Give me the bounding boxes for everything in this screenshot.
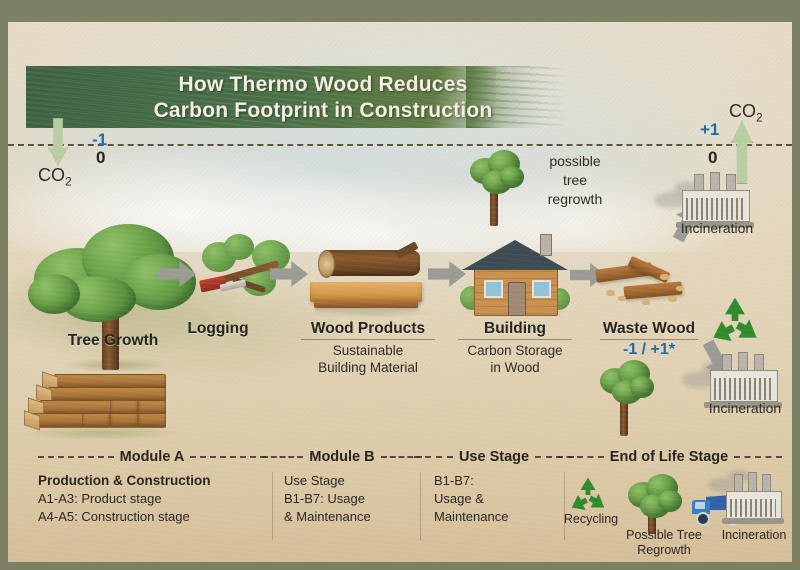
label-incineration-bottom: Incineration — [690, 400, 792, 417]
value-zero-left: 0 — [96, 148, 105, 168]
wood-products-icon — [310, 250, 430, 318]
label-wood-products: Wood Products — [288, 320, 448, 338]
underline-waste-wood — [600, 339, 698, 340]
tree-icon-regrowth-lower — [600, 360, 658, 436]
module-b-line-3: & Maintenance — [284, 508, 420, 526]
factory-icon-eol — [716, 474, 788, 524]
dash-left-use — [414, 456, 453, 458]
dash-left-b — [262, 456, 303, 458]
module-divider-3 — [564, 472, 565, 540]
co2-text-left: CO — [38, 165, 65, 185]
co2-text-right: CO — [729, 101, 756, 121]
label-incineration-top: Incineration — [662, 220, 772, 237]
module-b-line-1: Use Stage — [284, 472, 420, 490]
dash-right-eol — [734, 456, 782, 458]
carbon-zero-baseline — [8, 144, 792, 146]
use-stage-line-1: B1-B7: — [434, 472, 566, 490]
module-a-line-2: A1-A3: Product stage — [38, 490, 270, 508]
module-b-line-2: B1-B7: Usage — [284, 490, 420, 508]
use-stage-line-2: Usage & — [434, 490, 566, 508]
value-waste-wood-balance: -1 / +1* — [588, 341, 710, 358]
house-icon — [460, 234, 570, 316]
module-divider-1 — [272, 472, 273, 540]
dash-right-a — [190, 456, 266, 458]
module-header-use-stage: Use Stage — [414, 446, 574, 468]
label-logging: Logging — [158, 320, 278, 338]
modules-panel: Module A Production & Construction A1-A3… — [16, 446, 784, 554]
title-line-1: How Thermo Wood Reduces — [128, 72, 518, 98]
recycle-icon — [708, 296, 762, 346]
module-title-b: Module B — [309, 449, 374, 465]
underline-building — [458, 339, 572, 340]
co2-sub-right: 2 — [756, 111, 763, 125]
use-stage-line-3: Maintenance — [434, 508, 566, 526]
sublabel-building: Carbon Storage in Wood — [440, 342, 590, 376]
page-title: How Thermo Wood Reduces Carbon Footprint… — [128, 72, 518, 124]
co2-sub-left: 2 — [65, 175, 72, 189]
label-possible-tree-regrowth: possible tree regrowth — [516, 152, 634, 209]
module-header-a: Module A — [38, 446, 266, 468]
module-a-line-3: A4-A5: Construction stage — [38, 508, 270, 526]
label-eol-recycling: Recycling — [550, 512, 632, 527]
value-plus-one: +1 — [700, 120, 719, 140]
module-title-a: Module A — [120, 449, 185, 465]
underline-wood-products — [301, 339, 435, 340]
module-body-use-stage: B1-B7: Usage & Maintenance — [434, 472, 566, 526]
label-eol-tree-regrowth: Possible Tree Regrowth — [612, 528, 716, 558]
label-eol-incineration: Incineration — [710, 528, 792, 543]
module-title-eol: End of Life Stage — [610, 449, 728, 465]
module-header-b: Module B — [262, 446, 422, 468]
module-header-eol: End of Life Stage — [556, 446, 782, 468]
tree-icon-eol — [628, 474, 682, 530]
value-minus-one: -1 — [92, 130, 107, 150]
infographic-canvas: How Thermo Wood Reduces Carbon Footprint… — [8, 22, 792, 562]
module-a-line-1: Production & Construction — [38, 472, 270, 490]
poster-frame: How Thermo Wood Reduces Carbon Footprint… — [0, 0, 800, 570]
module-body-b: Use Stage B1-B7: Usage & Maintenance — [284, 472, 420, 526]
module-divider-2 — [420, 472, 421, 540]
co2-label-left: CO2 — [38, 165, 72, 189]
lumber-stack-icon — [24, 374, 174, 436]
module-title-use-stage: Use Stage — [459, 449, 529, 465]
waste-wood-icon — [594, 262, 694, 310]
dash-left-a — [38, 456, 114, 458]
recycle-icon-eol — [568, 476, 608, 514]
dash-left-eol — [556, 456, 604, 458]
value-zero-right: 0 — [708, 148, 717, 168]
sublabel-wood-products: Sustainable Building Material — [288, 342, 448, 376]
label-building: Building — [448, 320, 582, 338]
co2-label-right: CO2 — [729, 101, 763, 125]
title-line-2: Carbon Footprint in Construction — [128, 98, 518, 124]
label-waste-wood: Waste Wood — [588, 320, 710, 338]
module-body-a: Production & Construction A1-A3: Product… — [38, 472, 270, 526]
